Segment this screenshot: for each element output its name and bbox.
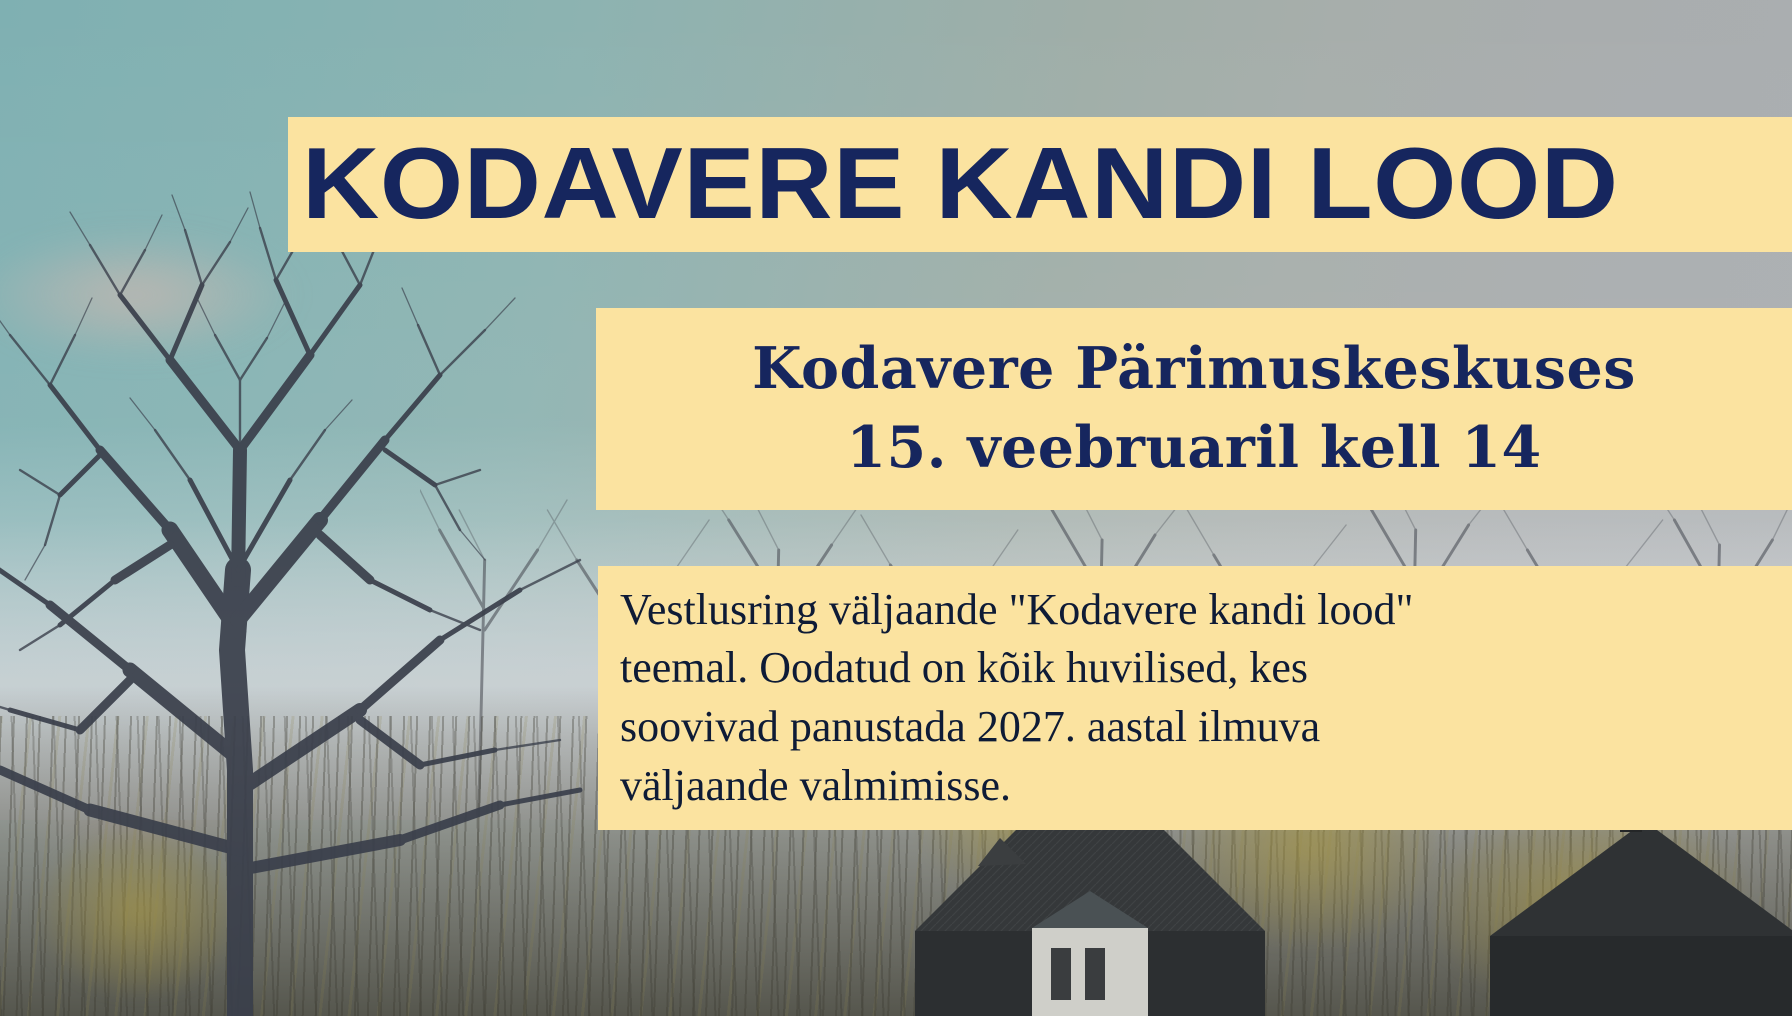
description-line: väljaande valmimisse. bbox=[620, 757, 1792, 816]
page-title: KODAVERE KANDI LOOD bbox=[302, 134, 1619, 235]
subtitle-band: Kodavere Pärimuskeskuses 15. veebruaril … bbox=[596, 308, 1792, 510]
description-line: soovivad panustada 2027. aastal ilmuva bbox=[620, 698, 1792, 757]
venue-line: Kodavere Pärimuskeskuses bbox=[752, 330, 1636, 409]
title-band: KODAVERE KANDI LOOD bbox=[288, 117, 1792, 252]
bare-tree bbox=[0, 150, 660, 1016]
description-band: Vestlusring väljaande "Kodavere kandi lo… bbox=[598, 566, 1792, 830]
description-line: Vestlusring väljaande "Kodavere kandi lo… bbox=[620, 581, 1792, 640]
datetime-line: 15. veebruaril kell 14 bbox=[846, 409, 1541, 488]
description-line: teemal. Oodatud on kõik huvilised, kes bbox=[620, 639, 1792, 698]
poster: KODAVERE KANDI LOOD Kodavere Pärimuskesk… bbox=[0, 0, 1792, 1016]
